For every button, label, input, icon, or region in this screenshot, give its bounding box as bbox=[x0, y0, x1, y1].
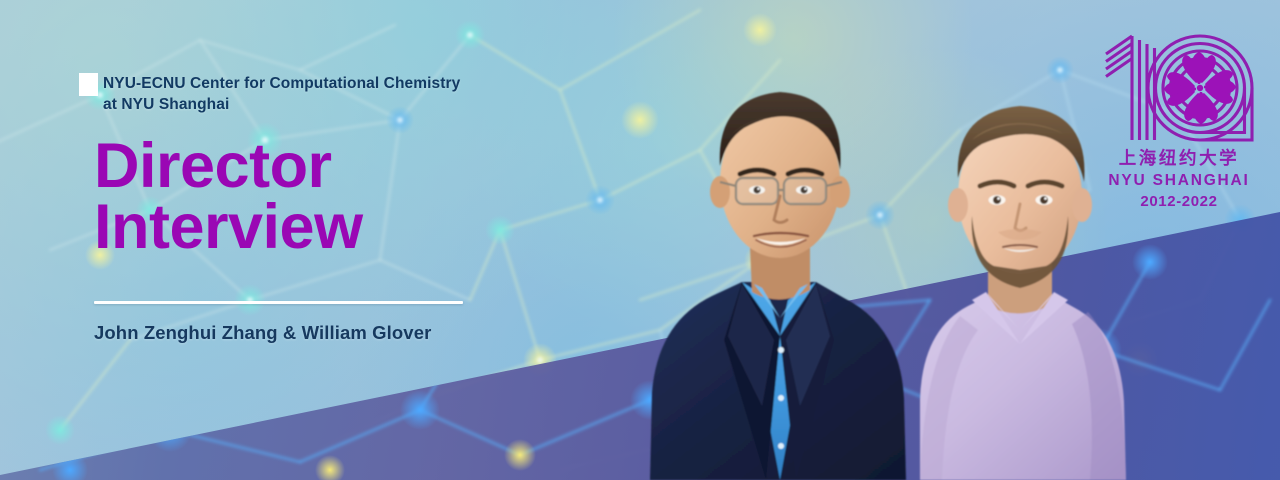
nyu-shanghai-anniversary-logo: 上海纽约大学 NYU SHANGHAI 2012-2022 bbox=[1094, 20, 1264, 210]
center-name-line2: at NYU Shanghai bbox=[103, 96, 229, 113]
center-name: NYU-ECNU Center for Computational Chemis… bbox=[93, 66, 460, 116]
page-title-line2: Interview bbox=[94, 197, 639, 259]
page-title: Director Interview bbox=[94, 136, 639, 259]
subtitle-names: John Zenghui Zhang & William Glover bbox=[94, 322, 639, 344]
page-title-line1: Director bbox=[94, 131, 332, 201]
logo-years: 2012-2022 bbox=[1094, 193, 1264, 210]
logo-chinese-name: 上海纽约大学 bbox=[1094, 145, 1264, 170]
anniversary-10-icon bbox=[1094, 20, 1264, 148]
logo-english-name: NYU SHANGHAI bbox=[1094, 172, 1264, 190]
headline-block: NYU-ECNU Center for Computational Chemis… bbox=[79, 66, 639, 344]
director-portraits bbox=[620, 0, 1140, 480]
title-divider bbox=[94, 301, 463, 304]
center-name-row: NYU-ECNU Center for Computational Chemis… bbox=[79, 66, 639, 116]
director-interview-banner: NYU-ECNU Center for Computational Chemis… bbox=[0, 0, 1280, 480]
center-name-line1: NYU-ECNU Center for Computational Chemis… bbox=[103, 75, 460, 92]
